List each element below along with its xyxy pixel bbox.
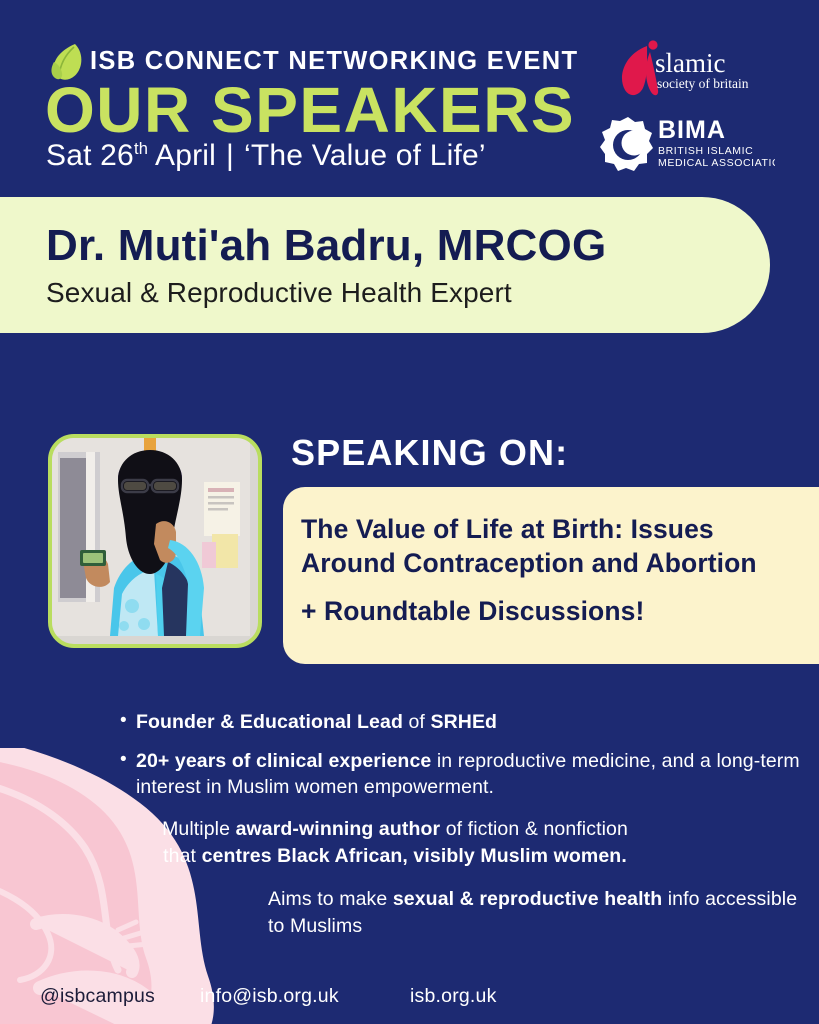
bio-bullet-2-lead: 20+ years of clinical experience <box>136 750 431 772</box>
speaker-name-banner: Dr. Muti'ah Badru, MRCOG Sexual & Reprod… <box>0 197 770 333</box>
date-superscript: th <box>134 140 148 158</box>
contact-email[interactable]: info@isb.org.uk <box>200 985 339 1008</box>
bio-centered-block: Multiple award-winning author of fiction… <box>0 816 790 870</box>
page-title: OUR SPEAKERS <box>45 78 575 142</box>
bio-center-line2-pre: that <box>163 845 201 867</box>
svg-text:BIMA: BIMA <box>658 116 726 144</box>
svg-text:MEDICAL ASSOCIATION: MEDICAL ASSOCIATION <box>658 157 775 169</box>
header: ISB CONNECT NETWORKING EVENT OUR SPEAKER… <box>0 0 819 197</box>
bio-center-line2: that centres Black African, visibly Musl… <box>0 843 790 870</box>
bio-aims-pre: Aims to make <box>268 888 393 910</box>
bio-bullet-1-mid: of <box>403 711 431 733</box>
date-separator: | <box>226 139 234 172</box>
event-theme: ‘The Value of Life’ <box>244 139 486 172</box>
svg-text:BRITISH ISLAMIC: BRITISH ISLAMIC <box>658 145 753 157</box>
bullet-marker-icon: • <box>120 747 127 772</box>
bio-bullet-2: •20+ years of clinical experience in rep… <box>136 748 806 800</box>
bio-bullet-1-lead: Founder & Educational Lead <box>136 711 403 733</box>
bio-aims: Aims to make sexual & reproductive healt… <box>268 886 808 940</box>
speaker-photo <box>48 434 262 648</box>
bio-center-line1-bold: award-winning author <box>236 818 441 840</box>
bima-logo: BIMA BRITISH ISLAMIC MEDICAL ASSOCIATION <box>600 116 775 174</box>
speaker-role: Sexual & Reproductive Health Expert <box>46 277 770 309</box>
bio-center-line1-post: of fiction & nonfiction <box>440 818 628 840</box>
islamic-society-of-britain-logo: slamic society of britain <box>617 40 767 98</box>
date-prefix: Sat 26 <box>46 139 134 172</box>
poster-root: ISB CONNECT NETWORKING EVENT OUR SPEAKER… <box>0 0 819 1024</box>
svg-text:society of britain: society of britain <box>657 76 749 91</box>
bullet-marker-icon: • <box>120 708 127 733</box>
bio-center-line2-bold: centres Black African, visibly Muslim wo… <box>202 845 627 867</box>
social-handle[interactable]: @isbcampus <box>40 985 155 1008</box>
topic-title: The Value of Life at Birth: Issues Aroun… <box>301 513 813 581</box>
date-theme-line: Sat 26th April|‘The Value of Life’ <box>46 139 486 173</box>
speaking-on-label: SPEAKING ON: <box>291 432 568 474</box>
website-url[interactable]: isb.org.uk <box>410 985 497 1008</box>
footer: @isbcampus info@isb.org.uk isb.org.uk <box>0 975 819 1024</box>
topic-extra: + Roundtable Discussions! <box>301 596 813 627</box>
date-suffix: April <box>148 139 216 172</box>
bio-aims-bold: sexual & reproductive health <box>393 888 662 910</box>
topic-card: The Value of Life at Birth: Issues Aroun… <box>283 487 819 664</box>
event-line: ISB CONNECT NETWORKING EVENT <box>90 47 578 76</box>
bio-bullet-1-tail: SRHEd <box>430 711 497 733</box>
bio-bullet-1: •Founder & Educational Lead of SRHEd <box>136 709 497 735</box>
bio-center-line1-pre: Multiple <box>162 818 236 840</box>
speaker-name: Dr. Muti'ah Badru, MRCOG <box>46 223 770 269</box>
svg-text:slamic: slamic <box>655 48 725 78</box>
